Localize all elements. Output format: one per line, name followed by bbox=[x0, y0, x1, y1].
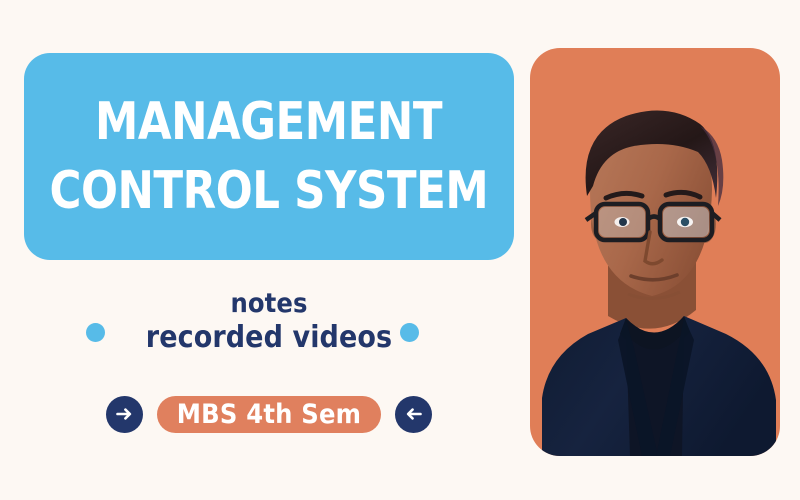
title-line-1: MANAGEMENT bbox=[96, 88, 443, 157]
semester-badge-label: MBS 4th Sem bbox=[177, 399, 361, 430]
badge-row: MBS 4th Sem bbox=[24, 394, 514, 434]
arrow-left-button[interactable] bbox=[395, 396, 432, 433]
title-card: MANAGEMENT CONTROL SYSTEM bbox=[24, 53, 514, 260]
accent-dot-left bbox=[86, 323, 105, 342]
portrait-panel bbox=[530, 48, 780, 456]
subtitle-block: notes recorded videos bbox=[24, 288, 514, 355]
semester-badge[interactable]: MBS 4th Sem bbox=[157, 396, 381, 433]
accent-dot-right bbox=[400, 323, 419, 342]
arrow-right-button[interactable] bbox=[106, 396, 143, 433]
subtitle-notes: notes bbox=[24, 288, 514, 320]
title-line-2: CONTROL SYSTEM bbox=[50, 157, 489, 226]
arrow-left-icon bbox=[403, 403, 425, 425]
arrow-right-icon bbox=[113, 403, 135, 425]
poster-canvas: MANAGEMENT CONTROL SYSTEM notes recorded… bbox=[0, 0, 800, 500]
portrait-photo bbox=[530, 48, 780, 456]
